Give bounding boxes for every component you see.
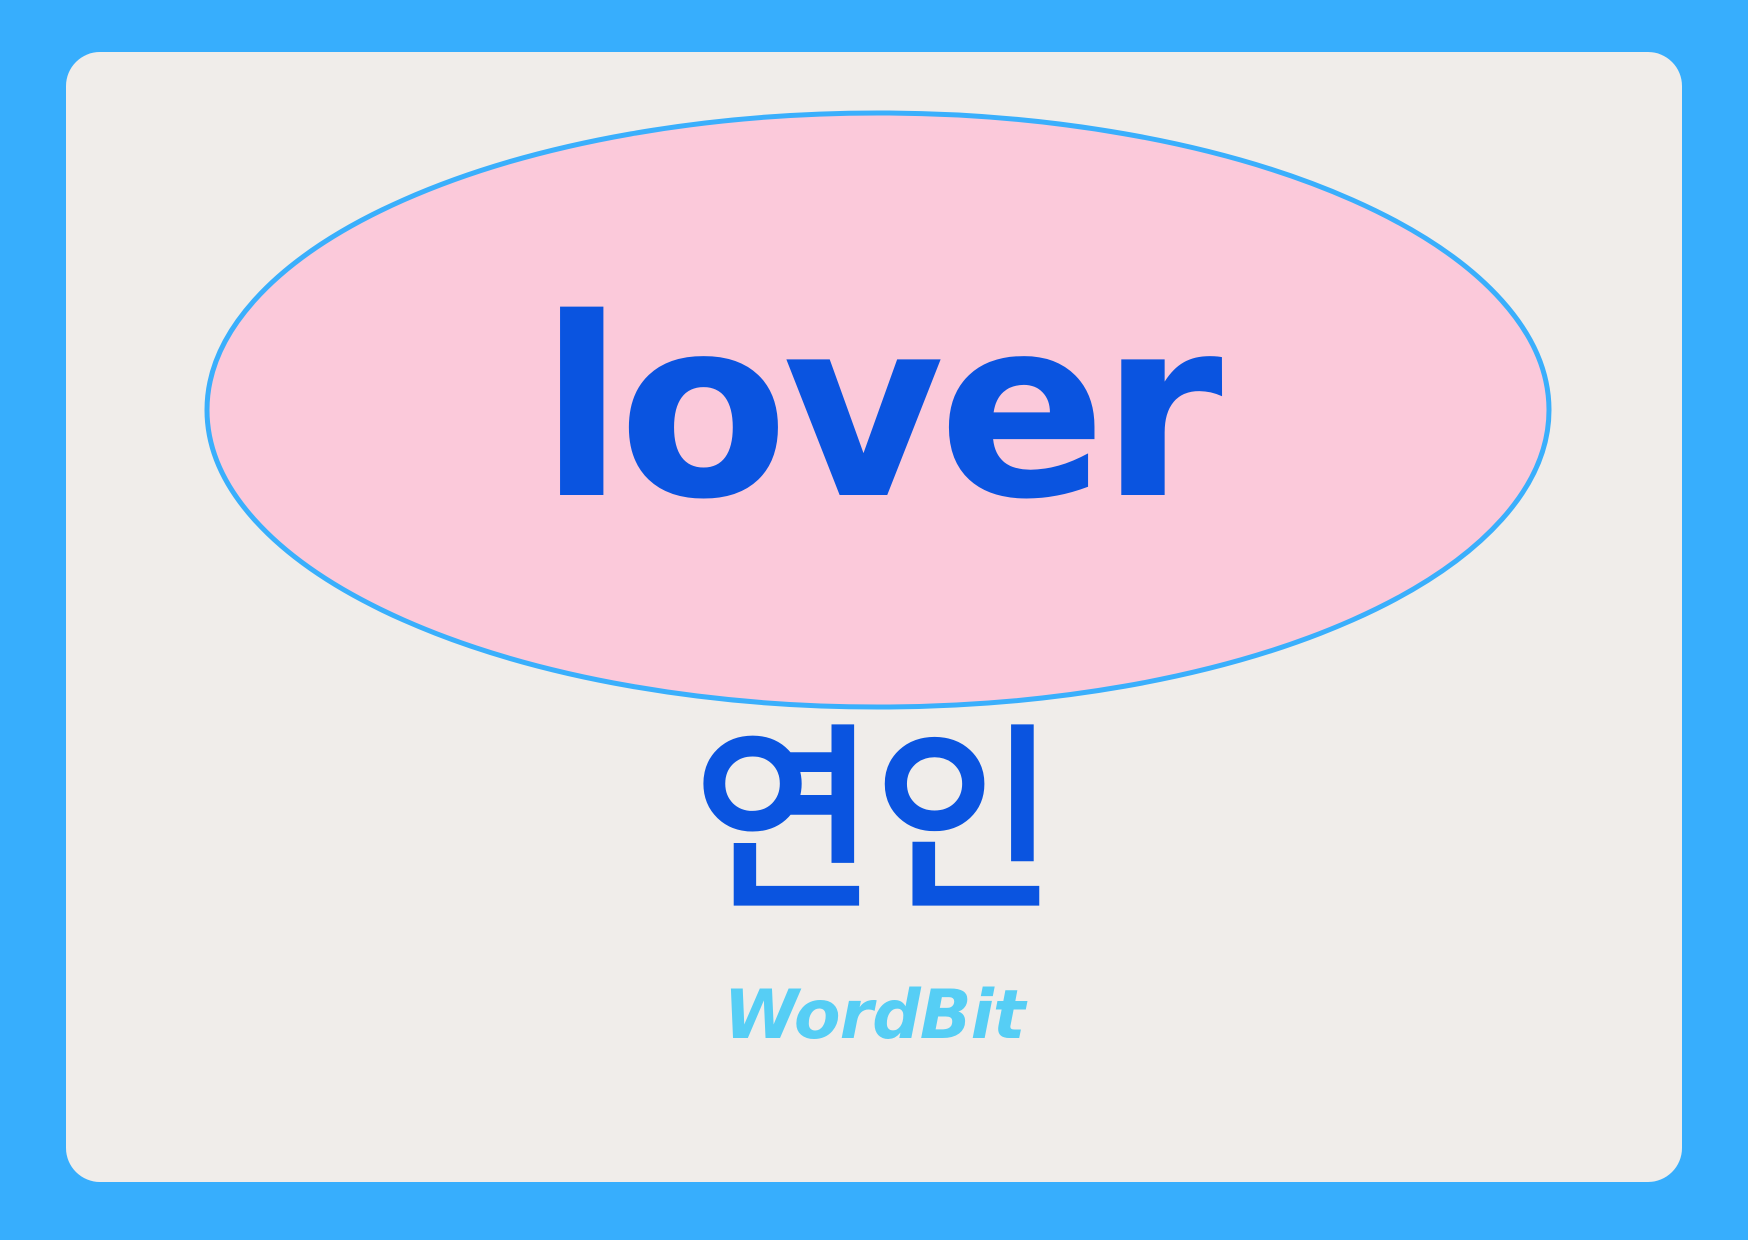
translation-word: 연인: [66, 724, 1682, 922]
brand-logo: WordBit: [66, 982, 1682, 1050]
flashcard[interactable]: lover 연인 WordBit: [66, 52, 1682, 1182]
flashcard-stage: lover 연인 WordBit: [0, 0, 1748, 1240]
term-word: lover: [204, 110, 1552, 710]
term-highlight-area: lover: [204, 110, 1552, 710]
